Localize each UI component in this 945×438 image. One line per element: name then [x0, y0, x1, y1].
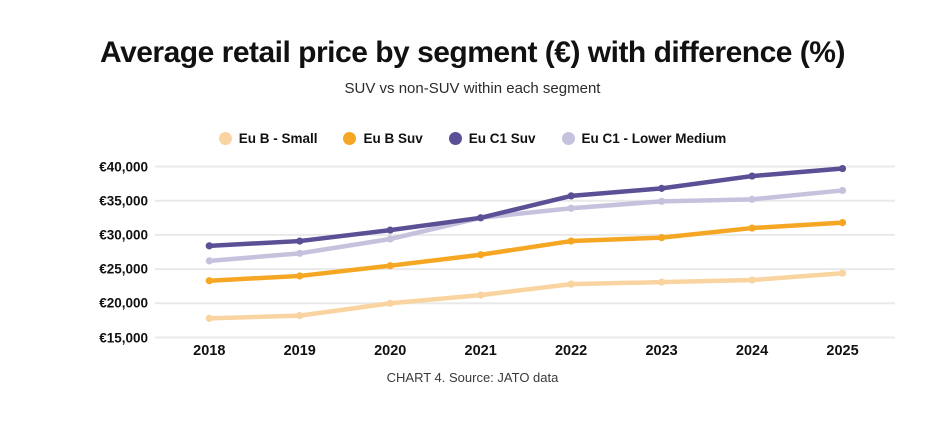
data-point[interactable]	[839, 219, 846, 226]
data-point[interactable]	[568, 237, 575, 244]
data-point[interactable]	[477, 251, 484, 258]
data-point[interactable]	[387, 300, 394, 307]
gridlines	[155, 167, 895, 338]
data-point[interactable]	[568, 192, 575, 199]
data-point[interactable]	[658, 185, 665, 192]
data-point[interactable]	[387, 227, 394, 234]
data-point[interactable]	[568, 205, 575, 212]
data-point[interactable]	[748, 172, 755, 179]
data-point[interactable]	[748, 224, 755, 231]
data-point[interactable]	[839, 165, 846, 172]
data-point[interactable]	[296, 237, 303, 244]
data-point[interactable]	[658, 234, 665, 241]
data-point[interactable]	[387, 235, 394, 242]
data-point[interactable]	[658, 198, 665, 205]
chart-figure: Average retail price by segment (€) with…	[0, 0, 945, 438]
data-point[interactable]	[296, 272, 303, 279]
data-point[interactable]	[477, 291, 484, 298]
data-point[interactable]	[658, 279, 665, 286]
data-point[interactable]	[206, 277, 213, 284]
data-point[interactable]	[568, 281, 575, 288]
series-lines	[206, 165, 846, 322]
data-point[interactable]	[387, 262, 394, 269]
data-point[interactable]	[206, 315, 213, 322]
data-point[interactable]	[748, 196, 755, 203]
series-line	[209, 273, 842, 318]
data-point[interactable]	[296, 250, 303, 257]
data-point[interactable]	[206, 242, 213, 249]
chart-caption: CHART 4. Source: JATO data	[0, 370, 945, 385]
data-point[interactable]	[839, 270, 846, 277]
data-point[interactable]	[206, 257, 213, 264]
data-point[interactable]	[748, 276, 755, 283]
data-point[interactable]	[296, 312, 303, 319]
data-point[interactable]	[839, 187, 846, 194]
data-point[interactable]	[477, 214, 484, 221]
